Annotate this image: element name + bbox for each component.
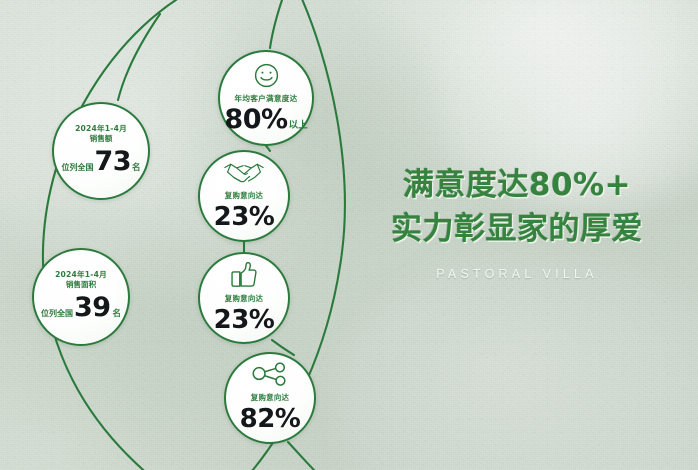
- headline-block: 满意度达80%+ 实力彰显家的厚爱 PASTORAL VILLA: [352, 163, 682, 281]
- badge-value-group: 位列全国 73 名: [61, 146, 140, 177]
- badge-period-label: 2024年1-4月: [75, 125, 127, 133]
- smiley-face-icon: [253, 62, 280, 89]
- badge-value-number: 23%: [214, 305, 275, 335]
- badge-value-number: 80%: [224, 104, 287, 135]
- badge-caption: 年均客户满意度达: [234, 93, 297, 104]
- badge-value-suffix: 以上: [289, 117, 308, 131]
- thumbs-up-icon: [230, 261, 258, 288]
- share-network-icon: [252, 362, 288, 387]
- badge-value-group: 82%: [240, 404, 301, 434]
- badge-sales-amount-ranking[interactable]: 2024年1-4月 销售额 位列全国 73 名: [52, 102, 150, 200]
- badge-sales-area-ranking[interactable]: 2024年1-4月 销售面积 位列全国 39 名: [32, 248, 130, 346]
- badge-repurchase-intent-handshake[interactable]: 复购意向达 23%: [198, 150, 290, 242]
- headline-line-1: 满意度达80%+: [352, 163, 682, 207]
- arc-stem-top-center: [270, 0, 282, 48]
- headline-line-2: 实力彰显家的厚爱: [352, 207, 682, 251]
- badge-metric-label: 销售额: [90, 135, 113, 143]
- badge-value-group: 位列全国 39 名: [41, 292, 121, 323]
- badge-caption: 复购意向达: [225, 190, 263, 201]
- badge-value-number: 82%: [240, 404, 301, 434]
- poster-canvas: 满意度达80%+ 实力彰显家的厚爱 PASTORAL VILLA 年均客户满意度…: [0, 0, 698, 470]
- badge-value-group: 80% 以上: [224, 104, 307, 135]
- arc-tail-bottom: [288, 442, 314, 470]
- badge-customer-satisfaction[interactable]: 年均客户满意度达 80% 以上: [218, 50, 314, 146]
- badge-repurchase-intent-thumb[interactable]: 复购意向达 23%: [198, 252, 290, 344]
- badge-repurchase-intent-share[interactable]: 复购意向达 82%: [224, 352, 316, 444]
- badge-value-group: 23%: [214, 202, 275, 232]
- badge-value-prefix: 位列全国: [41, 308, 73, 319]
- badge-metric-label: 销售面积: [66, 281, 96, 289]
- badge-value-number: 23%: [214, 202, 275, 232]
- badge-value-number: 73: [94, 146, 131, 177]
- handshake-icon: [223, 160, 265, 185]
- badge-value-number: 39: [74, 292, 111, 323]
- badge-value-prefix: 位列全国: [61, 162, 93, 173]
- badge-caption: 复购意向达: [251, 392, 289, 403]
- badge-caption: 复购意向达: [225, 293, 263, 304]
- arc-stem-top-left: [118, 14, 160, 100]
- badge-value-suffix: 名: [132, 161, 141, 173]
- badge-period-label: 2024年1-4月: [55, 271, 107, 279]
- brand-name: PASTORAL VILLA: [352, 267, 682, 281]
- badge-value-suffix: 名: [113, 307, 122, 319]
- badge-value-group: 23%: [214, 305, 275, 335]
- arc-outer-left: [43, 0, 196, 470]
